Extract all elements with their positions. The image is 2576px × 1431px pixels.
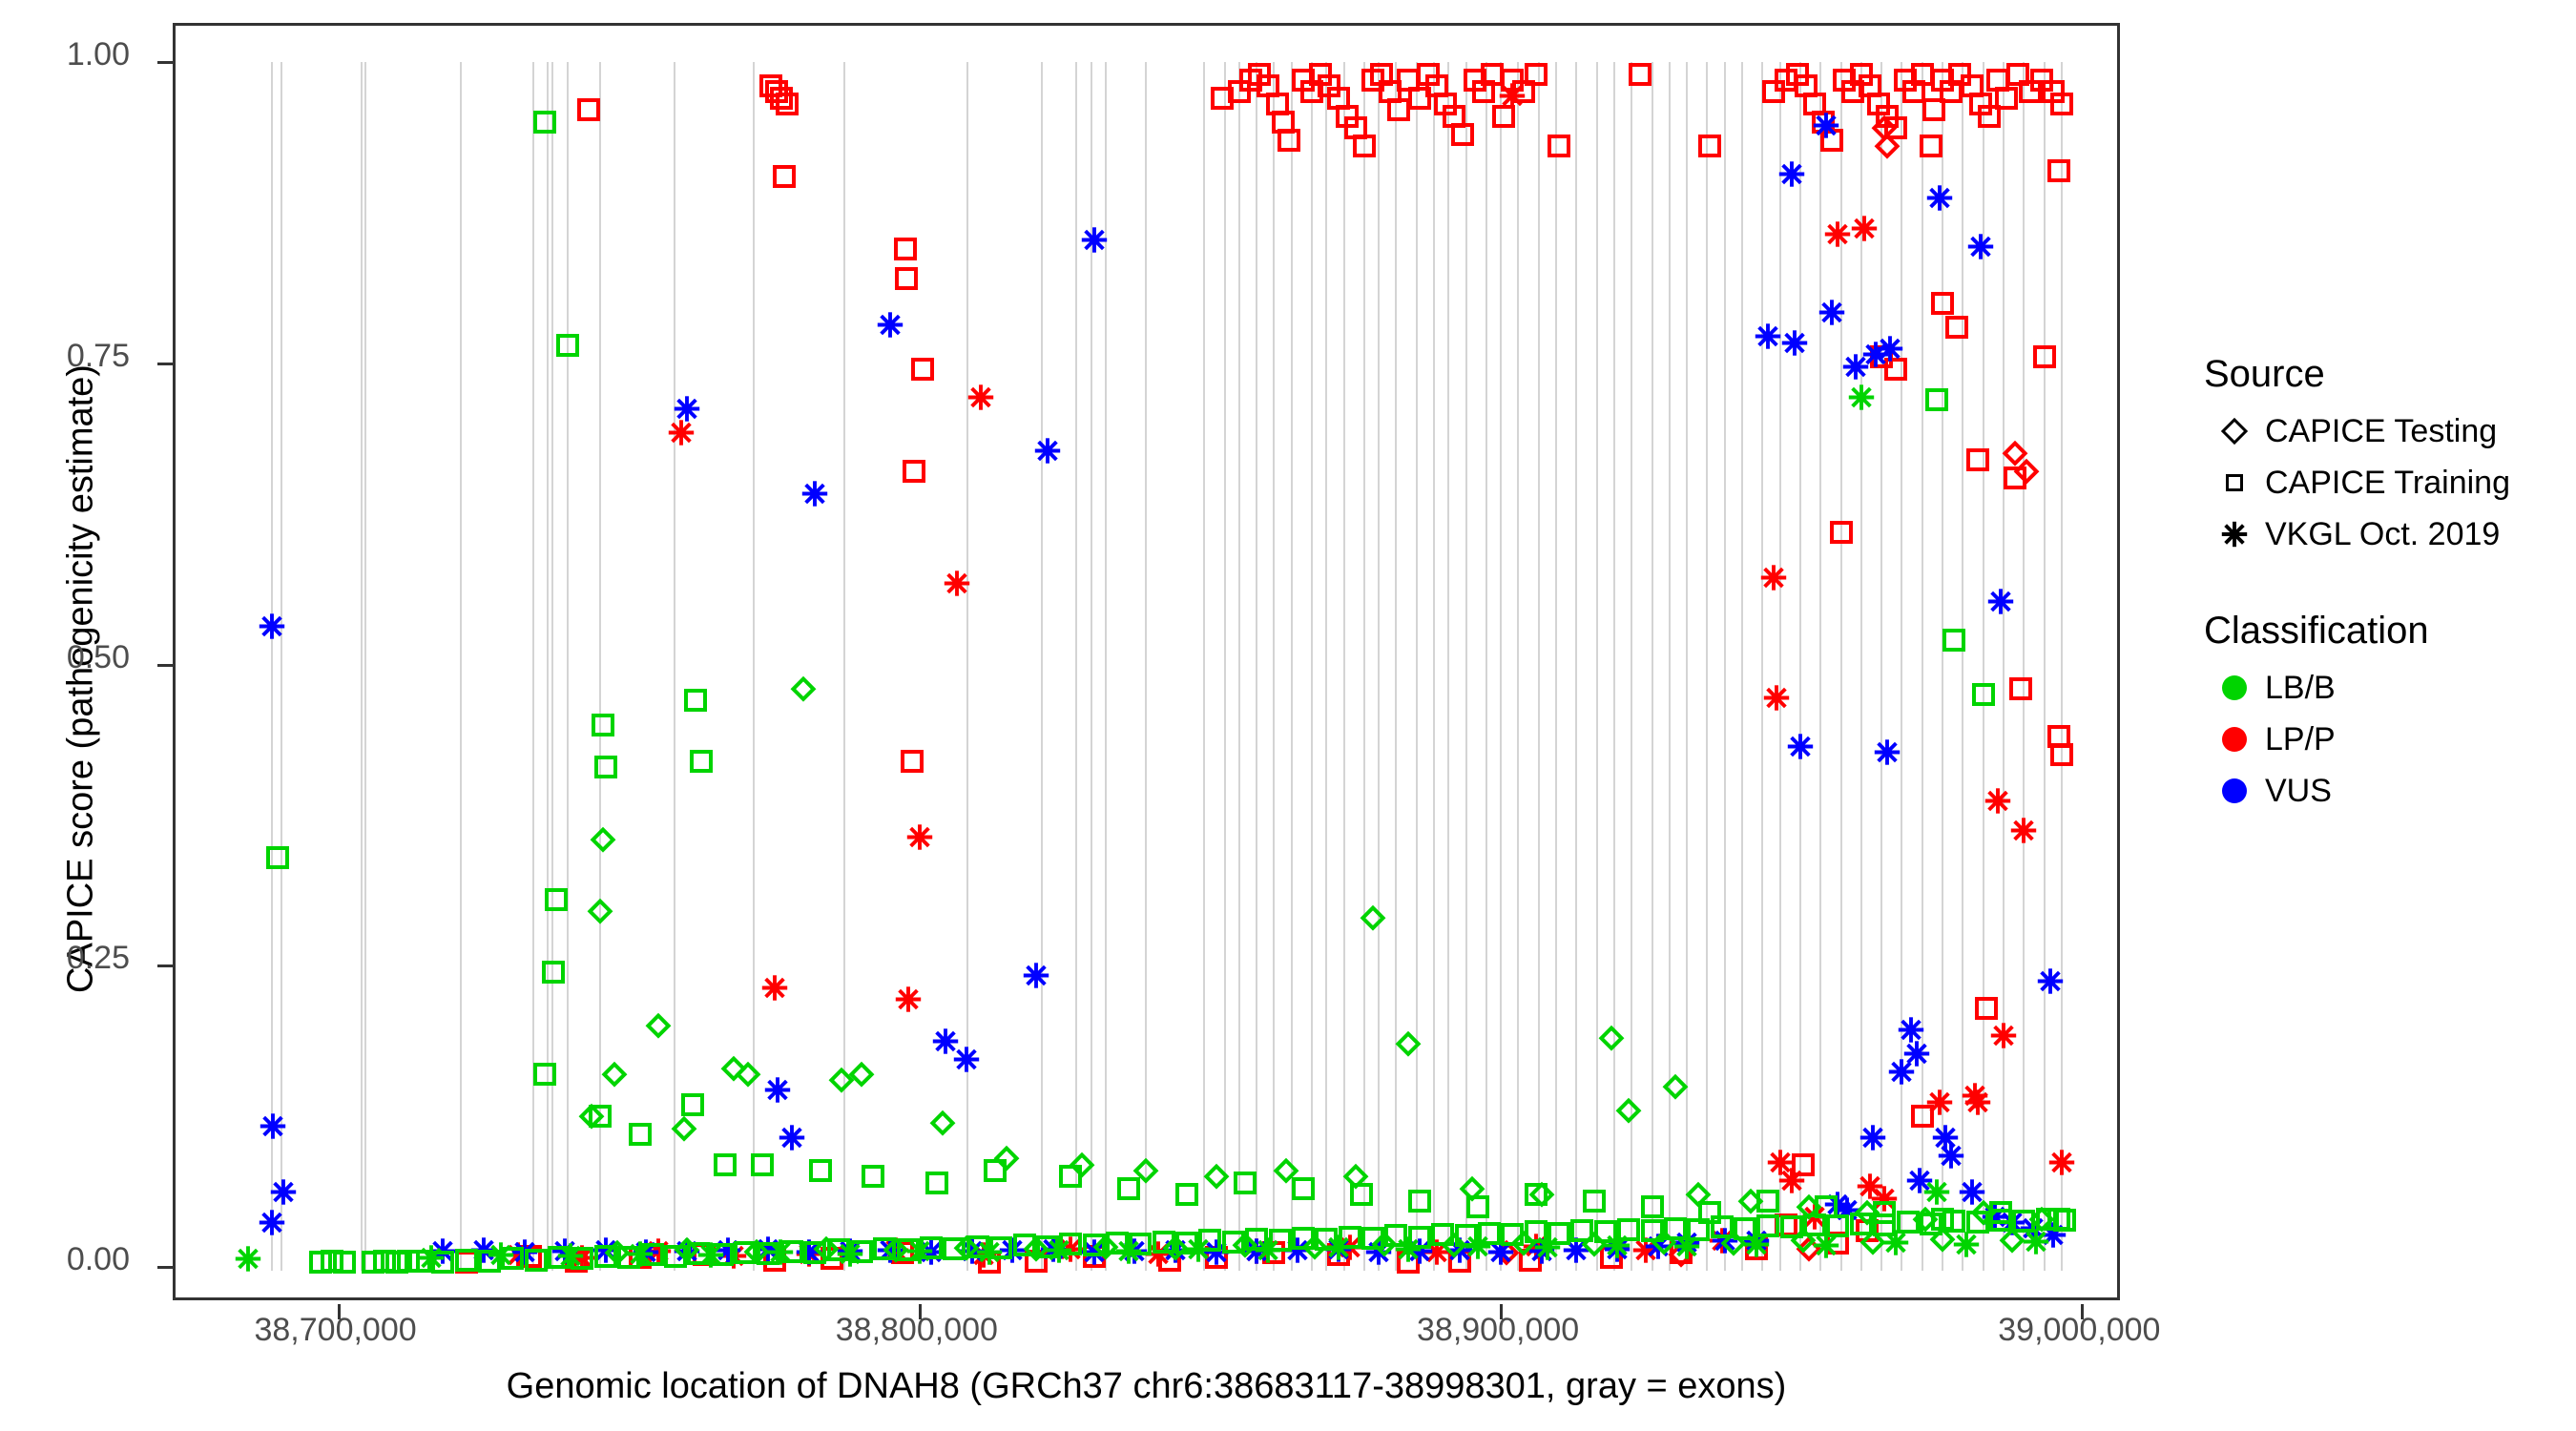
data-point	[2047, 1208, 2070, 1231]
exon-line	[364, 62, 366, 1271]
data-point	[814, 1236, 839, 1261]
asterisk-icon	[2204, 520, 2265, 549]
data-point	[966, 1235, 989, 1258]
data-point	[1023, 1236, 1048, 1261]
plot-surface	[176, 26, 2117, 1297]
data-point	[510, 1238, 539, 1272]
exon-line	[966, 62, 968, 1271]
data-point	[1812, 1231, 1840, 1264]
data-point	[1948, 63, 1971, 86]
data-point	[1153, 1231, 1175, 1254]
data-point	[1897, 1211, 1920, 1234]
data-point	[269, 1178, 298, 1212]
data-point	[2028, 1206, 2053, 1231]
data-point	[1025, 1250, 1048, 1273]
legend-item-label: CAPICE Testing	[2265, 413, 2497, 450]
legend-item-label: VUS	[2265, 773, 2332, 810]
data-point	[1803, 93, 1826, 115]
data-point	[1961, 1082, 1989, 1115]
exon-line	[1761, 62, 1763, 1271]
x-axis-title: Genomic location of DNAH8 (GRCh37 chr6:3…	[173, 1366, 2120, 1407]
data-point	[894, 985, 923, 1019]
data-point	[1512, 80, 1535, 103]
data-point	[1995, 87, 2018, 110]
data-point	[1570, 1219, 1593, 1242]
data-point	[645, 1013, 670, 1038]
data-point	[1045, 1235, 1073, 1269]
data-point	[1850, 214, 1879, 247]
exon-line	[1819, 62, 1821, 1271]
data-point	[1266, 93, 1289, 115]
data-point	[1894, 69, 1917, 92]
data-point	[1872, 115, 1897, 140]
data-point	[1812, 111, 1835, 134]
data-point	[1975, 997, 1998, 1020]
data-point	[1952, 1230, 1981, 1263]
data-point	[1876, 105, 1899, 128]
data-point	[1867, 93, 1890, 115]
data-point	[1756, 1190, 1779, 1213]
data-point	[641, 1243, 664, 1266]
data-point	[1826, 1214, 1849, 1237]
data-point	[714, 1153, 737, 1176]
data-point	[754, 1234, 782, 1268]
data-point	[571, 1247, 593, 1270]
legend-item-diamond[interactable]: CAPICE Testing	[2204, 405, 2566, 457]
exon-line	[1500, 62, 1502, 1271]
data-point	[883, 1237, 908, 1262]
data-point	[2009, 677, 2032, 700]
data-point	[1583, 1190, 1606, 1213]
data-point	[617, 1246, 640, 1269]
exon-line	[1860, 62, 1862, 1271]
exon-line	[547, 62, 549, 1271]
data-point	[978, 1251, 1001, 1274]
data-point	[1777, 159, 1806, 193]
exon-line	[1363, 62, 1365, 1271]
data-point	[2047, 725, 2070, 748]
data-point	[836, 1239, 864, 1273]
data-point	[1966, 1211, 1989, 1234]
data-point	[1339, 1226, 1361, 1249]
data-point	[1501, 69, 1524, 92]
data-point	[1841, 353, 1870, 386]
data-point	[565, 1250, 588, 1273]
data-point	[1708, 1226, 1736, 1259]
y-tick	[157, 61, 173, 64]
data-point	[1925, 1088, 1954, 1121]
data-point	[1525, 63, 1548, 86]
data-point	[1931, 1124, 1960, 1157]
data-point	[2036, 1208, 2059, 1231]
data-point	[519, 1245, 542, 1268]
data-point	[1525, 1183, 1548, 1206]
data-point	[719, 1242, 748, 1275]
data-point	[1387, 98, 1410, 121]
exon-line	[1922, 62, 1923, 1271]
data-point	[1198, 1229, 1221, 1252]
data-point	[1442, 1233, 1466, 1257]
exon-line	[1378, 62, 1380, 1271]
data-point	[1269, 1229, 1292, 1252]
color-swatch-icon	[2204, 675, 2265, 700]
exon-line	[2061, 62, 2063, 1271]
exon-line	[1273, 62, 1275, 1271]
x-tick-label: 39,000,000	[1998, 1312, 2160, 1349]
y-axis-title: CAPICE score (pathogenicity estimate)	[61, 64, 102, 1295]
data-point	[2006, 63, 2029, 86]
data-point	[770, 87, 793, 110]
data-point	[969, 1240, 998, 1274]
data-point	[1548, 135, 1570, 157]
exon-line	[1041, 62, 1043, 1271]
data-point	[1698, 1201, 1721, 1224]
data-point	[629, 1123, 652, 1146]
data-point	[1350, 1183, 1373, 1206]
data-point	[1033, 437, 1062, 470]
legend-item-label: LB/B	[2265, 670, 2336, 707]
data-point	[1881, 1229, 1910, 1262]
exon-line	[1238, 62, 1240, 1271]
data-point	[1775, 69, 1797, 92]
data-point	[1756, 1214, 1779, 1237]
exon-line	[271, 62, 273, 1271]
data-point	[1669, 1242, 1693, 1267]
data-point	[1083, 1234, 1106, 1256]
legend-item-square[interactable]: CAPICE Training	[2204, 457, 2566, 508]
data-point	[1202, 1238, 1231, 1272]
exon-line	[532, 62, 534, 1271]
data-point	[673, 395, 701, 428]
data-point	[696, 1240, 725, 1274]
data-point	[2022, 1228, 2050, 1261]
data-point	[1278, 129, 1300, 152]
y-tick	[157, 664, 173, 667]
data-point	[1925, 388, 1948, 411]
exon-line	[1343, 62, 1345, 1271]
exon-line	[1447, 62, 1449, 1271]
exon-line	[843, 62, 845, 1271]
data-point	[1494, 1240, 1519, 1265]
data-point	[605, 1240, 630, 1265]
data-point	[385, 1251, 408, 1274]
data-point	[1978, 105, 2001, 128]
exon-line	[1416, 62, 1418, 1271]
exon-line	[280, 62, 282, 1271]
data-point	[1969, 93, 1992, 115]
data-point	[1945, 316, 1968, 339]
x-tick-label: 38,700,000	[254, 1312, 416, 1349]
data-point	[966, 383, 995, 416]
data-point	[1875, 134, 1900, 158]
exon-line	[1555, 62, 1557, 1271]
data-point	[836, 1237, 864, 1271]
data-point	[757, 1242, 779, 1265]
data-point	[1762, 684, 1791, 717]
data-point	[1445, 1235, 1474, 1269]
data-point	[958, 1237, 987, 1271]
data-point	[1815, 1195, 1838, 1218]
data-point	[1324, 1234, 1353, 1267]
data-point	[1600, 1246, 1623, 1269]
exon-line	[1538, 62, 1540, 1271]
legend-item-asterisk[interactable]: VKGL Oct. 2019	[2204, 508, 2566, 560]
data-point	[592, 714, 614, 736]
data-point	[408, 1250, 431, 1273]
y-tick-label: 0.00	[0, 1241, 130, 1278]
data-point	[1302, 1234, 1327, 1258]
data-point	[905, 822, 934, 856]
data-point	[1922, 1178, 1951, 1212]
data-point	[809, 1159, 832, 1182]
data-point	[1158, 1249, 1181, 1272]
square-icon	[2204, 474, 2265, 491]
data-point	[684, 689, 707, 712]
legend-item-lp-p[interactable]: LP/P	[2204, 714, 2566, 765]
data-point	[309, 1251, 332, 1274]
legend-item-lb-b[interactable]: LB/B	[2204, 662, 2566, 714]
data-point	[803, 1241, 826, 1264]
data-point	[920, 1236, 943, 1259]
data-point	[1803, 1213, 1826, 1236]
data-point	[1448, 1250, 1471, 1273]
data-point	[1861, 341, 1890, 374]
data-point	[1984, 786, 2012, 819]
data-point	[487, 1240, 515, 1274]
exon-line	[1631, 62, 1632, 1271]
exon-line	[753, 62, 755, 1271]
data-point	[925, 1172, 948, 1194]
data-point	[690, 750, 713, 773]
data-point	[478, 1250, 501, 1273]
legend-item-vus[interactable]: VUS	[2204, 765, 2566, 817]
data-point	[930, 1110, 955, 1134]
data-point	[1372, 1232, 1397, 1256]
y-tick	[157, 363, 173, 365]
data-point	[800, 479, 829, 512]
exon-line	[1224, 62, 1226, 1271]
data-point	[568, 1243, 596, 1276]
data-point	[556, 1242, 585, 1275]
data-point	[1184, 1234, 1213, 1268]
data-point	[1394, 1234, 1423, 1268]
data-point	[504, 1240, 532, 1274]
data-point	[1013, 1234, 1036, 1256]
data-point	[629, 1246, 652, 1269]
exon-line	[599, 62, 601, 1271]
data-point	[1417, 63, 1440, 86]
data-point	[1511, 1231, 1536, 1255]
data-point	[1144, 1239, 1173, 1273]
data-point	[591, 826, 615, 851]
data-point	[1443, 105, 1465, 128]
data-point	[1318, 74, 1340, 97]
exon-line	[1942, 62, 1943, 1271]
exon-line	[1311, 62, 1313, 1271]
data-point	[1059, 1233, 1082, 1255]
data-point	[1239, 69, 1262, 92]
data-point	[602, 1062, 627, 1087]
exon-line	[1433, 62, 1435, 1271]
data-point	[431, 1251, 454, 1274]
legend-item-label: LP/P	[2265, 721, 2336, 758]
legend-item-label: CAPICE Training	[2265, 465, 2510, 502]
data-point	[1833, 69, 1856, 92]
data-point	[675, 1237, 699, 1262]
data-point	[1734, 1217, 1756, 1240]
data-point	[917, 1238, 945, 1272]
data-point	[1175, 1183, 1198, 1206]
data-point	[903, 460, 925, 483]
data-point	[1905, 1166, 1934, 1199]
data-point	[1631, 1235, 1660, 1269]
exon-line	[2023, 62, 2025, 1271]
data-point	[1986, 69, 2009, 92]
data-point	[1527, 1237, 1556, 1271]
data-point	[1379, 80, 1402, 103]
data-point	[1408, 1226, 1431, 1249]
data-point	[1405, 1237, 1434, 1271]
data-point	[828, 1068, 853, 1092]
data-point	[1501, 1223, 1524, 1246]
data-point	[1459, 1176, 1484, 1201]
data-point	[1324, 1234, 1353, 1268]
exon-line	[1256, 62, 1257, 1271]
data-point	[1859, 1124, 1887, 1157]
data-point	[1161, 1235, 1190, 1269]
data-point	[931, 1027, 960, 1061]
data-point	[455, 1251, 478, 1274]
data-point	[1989, 1209, 2012, 1232]
data-point	[1989, 1201, 2012, 1224]
exon-line	[1613, 62, 1615, 1271]
data-point	[1925, 184, 1954, 218]
data-point	[1254, 1235, 1282, 1269]
exon-line	[567, 62, 569, 1271]
data-point	[791, 676, 816, 701]
data-point	[1492, 105, 1515, 128]
data-point	[765, 80, 788, 103]
data-point	[681, 1093, 704, 1116]
data-point	[714, 1235, 742, 1269]
data-point	[594, 1245, 617, 1268]
data-point	[1022, 961, 1050, 994]
exon-line	[1596, 62, 1598, 1271]
exon-line	[361, 62, 363, 1271]
data-point	[577, 98, 600, 121]
data-point	[1826, 1232, 1849, 1255]
data-point	[673, 1237, 701, 1271]
legend-classification-title: Classification	[2204, 610, 2566, 653]
color-swatch-icon	[2204, 778, 2265, 803]
data-point	[417, 1243, 446, 1276]
data-point	[850, 1240, 873, 1263]
data-point	[1833, 1196, 1861, 1230]
data-point	[1966, 232, 1995, 265]
data-point	[2019, 80, 2042, 103]
data-point	[1039, 1234, 1068, 1268]
exon-line	[1962, 62, 1963, 1271]
data-point	[876, 310, 904, 343]
data-point	[778, 1124, 806, 1157]
data-point	[259, 1111, 287, 1145]
data-point	[1986, 588, 2015, 621]
data-point	[1603, 1231, 1631, 1264]
data-point	[1966, 448, 1989, 471]
x-tick-label: 38,800,000	[836, 1312, 998, 1349]
data-point	[469, 1235, 498, 1269]
data-point	[2014, 459, 2039, 484]
data-point	[773, 165, 796, 188]
data-point	[667, 419, 696, 452]
exon-line	[1465, 62, 1467, 1271]
data-point	[1408, 1190, 1431, 1213]
data-point	[895, 267, 918, 290]
exon-line	[1291, 62, 1293, 1271]
data-point	[1336, 105, 1359, 128]
data-point	[1336, 1234, 1364, 1267]
data-point	[1083, 1245, 1106, 1268]
data-point	[795, 1239, 823, 1273]
data-point	[1873, 1213, 1896, 1236]
data-point	[1616, 1098, 1641, 1123]
data-point	[1745, 1237, 1768, 1260]
data-point	[736, 1062, 760, 1087]
data-point	[501, 1247, 524, 1270]
data-point	[1792, 1153, 1815, 1176]
exon-line	[2044, 62, 2046, 1271]
y-tick-label: 0.75	[0, 338, 130, 375]
data-point	[1823, 220, 1852, 254]
data-point	[943, 1237, 966, 1260]
data-point	[1884, 116, 1907, 139]
data-point	[1777, 1166, 1806, 1199]
exon-line	[1901, 62, 1902, 1271]
data-point	[1581, 1232, 1606, 1256]
data-point	[897, 1238, 920, 1261]
data-point	[1775, 1213, 1797, 1236]
data-point	[626, 1239, 654, 1273]
y-tick	[157, 1266, 173, 1269]
data-point	[876, 1235, 904, 1269]
data-point	[849, 1062, 874, 1087]
y-tick-label: 0.50	[0, 639, 130, 676]
data-point	[1059, 1165, 1082, 1188]
y-tick-label: 1.00	[0, 36, 130, 73]
diamond-icon	[2204, 422, 2265, 441]
data-point	[428, 1237, 457, 1271]
data-point	[901, 750, 924, 773]
data-point	[693, 1243, 716, 1266]
exon-line	[1105, 62, 1107, 1271]
data-point	[1370, 63, 1393, 86]
data-point	[891, 1241, 914, 1264]
data-point	[632, 1238, 660, 1272]
exon-line	[1983, 62, 1984, 1271]
data-point	[234, 1244, 262, 1277]
data-point	[1114, 1237, 1143, 1271]
data-point	[1498, 81, 1527, 114]
data-point	[1873, 738, 1901, 772]
data-point	[1528, 1182, 1553, 1207]
data-point	[1663, 1073, 1688, 1098]
data-point	[760, 973, 789, 1006]
exon-line	[1395, 62, 1397, 1271]
data-point	[1283, 1235, 1312, 1269]
data-point	[1762, 80, 1785, 103]
data-point	[1786, 63, 1809, 86]
exon-line	[1145, 62, 1147, 1271]
